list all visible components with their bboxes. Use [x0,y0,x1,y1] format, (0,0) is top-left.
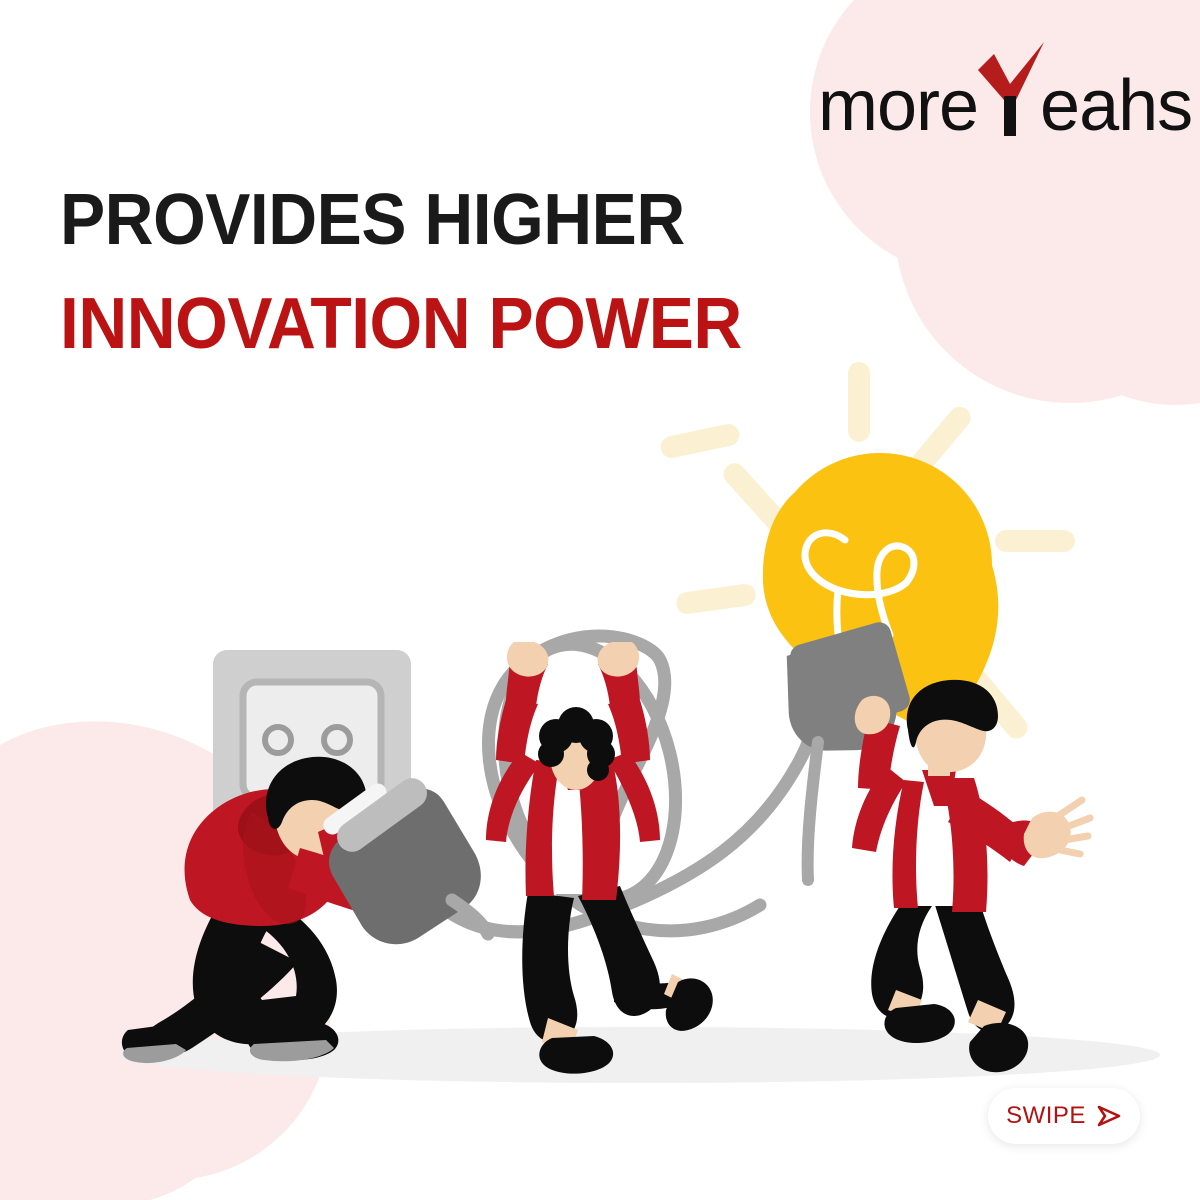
poster-canvas: more eahs PROVIDES HIGHER INNOVATION POW… [0,0,1200,1200]
page-title: PROVIDES HIGHER INNOVATION POWER [60,168,785,376]
person-center [486,642,713,1074]
headline-line-1: PROVIDES HIGHER [60,168,742,272]
person-right [852,680,1090,1072]
swipe-label: SWIPE [1006,1102,1086,1130]
logo-text-before: more [818,66,978,146]
logo-text-after: eahs [1040,66,1192,146]
swipe-button[interactable]: SWIPE [988,1088,1140,1144]
arrow-right-icon [1096,1105,1122,1127]
brand-logo[interactable]: more eahs [818,58,1192,147]
red-check-y-icon [978,58,1040,130]
headline-line-2: INNOVATION POWER [60,272,742,376]
